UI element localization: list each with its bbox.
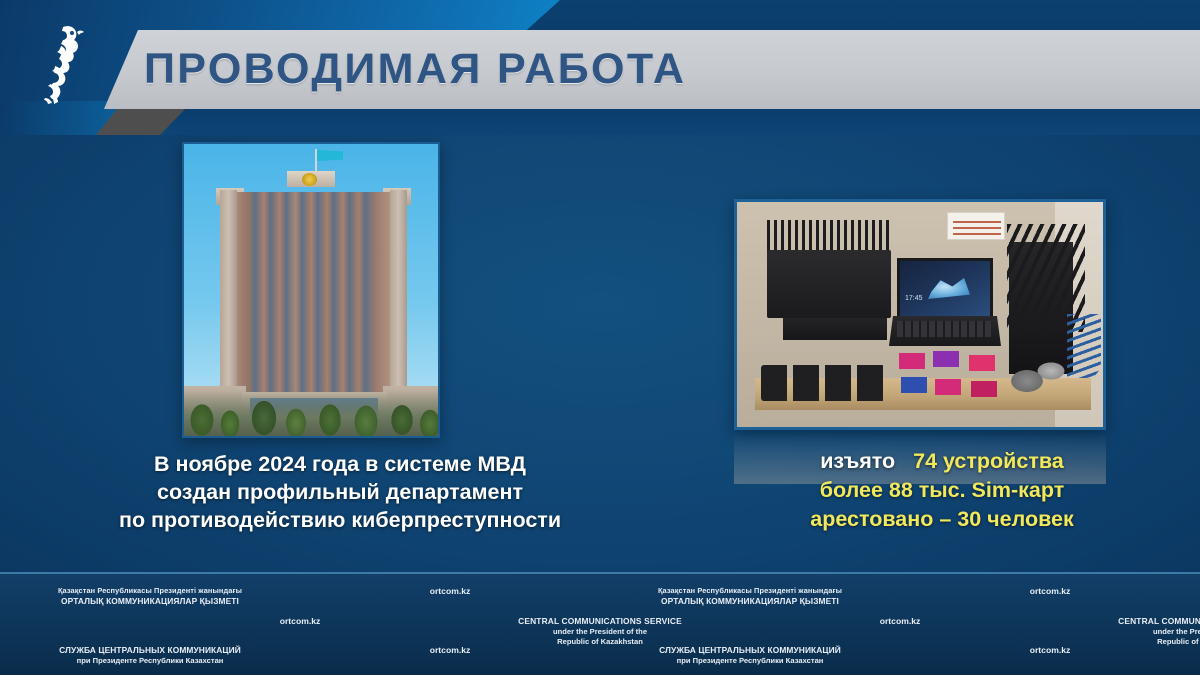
caption-right-value-devices: 74 устройства — [913, 449, 1064, 473]
footer-ru-line2: при Президенте Республики Казахстан — [0, 656, 300, 666]
evidence-cables — [1067, 314, 1101, 380]
seized-phones — [761, 365, 885, 401]
footer-tile-ru: СЛУЖБА ЦЕНТРАЛЬНЫХ КОММУНИКАЦИЙ при През… — [0, 645, 300, 666]
slide-root: ПРОВОДИМАЯ РАБОТА — [0, 0, 1200, 675]
evidence-label-paper — [947, 212, 1005, 240]
caption-left-line-3: по противодействию киберпреступности — [60, 506, 620, 534]
laptop-clock: 17:45 — [905, 295, 923, 302]
footer-ru-line1: СЛУЖБА ЦЕНТРАЛЬНЫХ КОММУНИКАЦИЙ — [0, 645, 300, 656]
simbox-antennas-left — [767, 220, 891, 252]
laptop-keyboard — [897, 321, 991, 337]
caption-right-line-3: арестовано – 30 человек — [742, 505, 1142, 534]
seized-sim-cards — [897, 351, 1023, 401]
header-title-banner: ПРОВОДИМАЯ РАБОТА — [104, 30, 1200, 109]
caption-right-line-1: изъято 74 устройства — [742, 447, 1142, 476]
caption-left: В ноябре 2024 года в системе МВД создан … — [60, 450, 620, 534]
footer-row-russian: СЛУЖБА ЦЕНТРАЛЬНЫХ КОММУНИКАЦИЙ при През… — [0, 645, 1200, 666]
flag-pole — [315, 149, 317, 173]
caption-left-line-2: создан профильный департамент — [60, 478, 620, 506]
footer-url: ortcom.kz — [300, 586, 600, 597]
seized-sim-chips — [1009, 359, 1067, 399]
state-emblem-icon — [302, 173, 317, 186]
footer-ru-line1: СЛУЖБА ЦЕНТРАЛЬНЫХ КОММУНИКАЦИЙ — [600, 645, 900, 656]
footer-tile-en: CENTRAL COMMUNICATIONS SERVICE under the… — [450, 616, 750, 647]
footer-tile-url: ortcom.kz — [300, 645, 600, 666]
caption-right-line-2: более 88 тыс. Sim-карт — [742, 476, 1142, 505]
building-tower — [234, 192, 392, 392]
laptop-screen: 17:45 — [897, 258, 993, 316]
slide-header: ПРОВОДИМАЯ РАБОТА — [0, 0, 1200, 135]
building-treeline — [184, 390, 440, 436]
simbox-device-left — [767, 250, 891, 318]
simbox-lid — [783, 318, 887, 340]
kazakhstan-flag-icon — [317, 150, 343, 161]
laptop-wallpaper — [928, 275, 970, 299]
footer-tile-url: ortcom.kz — [150, 616, 450, 647]
footer-row-english: ortcom.kz CENTRAL COMMUNICATIONS SERVICE… — [150, 616, 1200, 647]
photo-seized-equipment: 17:45 — [734, 199, 1106, 430]
footer-en-line1: CENTRAL COMMUNICATIONS SERVICE — [1050, 616, 1200, 627]
photo-mvd-building — [182, 142, 440, 438]
evidence-scene: 17:45 — [737, 202, 1103, 427]
footer-en-line2: under the President of the — [450, 627, 750, 637]
footer-row-kazakh: Қазақстан Республикасы Президенті жанынд… — [0, 586, 1200, 607]
building-pillar-right — [390, 190, 407, 396]
footer-kk-line2: ОРТАЛЫҚ КОММУНИКАЦИЯЛАР ҚЫЗМЕТІ — [0, 596, 300, 607]
caption-left-line-1: В ноябре 2024 года в системе МВД — [60, 450, 620, 478]
footer-kk-line1: Қазақстан Республикасы Президенті жанынд… — [600, 586, 900, 596]
footer-url: ortcom.kz — [900, 586, 1200, 597]
footer-tile-en: CENTRAL COMMUNICATIONS SERVICE under the… — [1050, 616, 1200, 647]
footer-tile-url: ortcom.kz — [750, 616, 1050, 647]
footer-url: ortcom.kz — [750, 616, 1050, 627]
building-scene — [184, 144, 438, 436]
footer-tile-url: ortcom.kz — [900, 645, 1200, 666]
footer-url: ortcom.kz — [900, 645, 1200, 656]
snow-leopard-emblem-icon — [33, 22, 95, 106]
page-title: ПРОВОДИМАЯ РАБОТА — [144, 45, 686, 94]
footer-tile-url: ortcom.kz — [900, 586, 1200, 607]
footer-tile-url: ortcom.kz — [300, 586, 600, 607]
footer-kk-line2: ОРТАЛЫҚ КОММУНИКАЦИЯЛАР ҚЫЗМЕТІ — [600, 596, 900, 607]
footer-watermark-band: Қазақстан Республикасы Президенті жанынд… — [0, 572, 1200, 675]
footer-url: ortcom.kz — [150, 616, 450, 627]
footer-en-line2: under the President of the — [1050, 627, 1200, 637]
footer-ru-line2: при Президенте Республики Казахстан — [600, 656, 900, 666]
caption-right-label-seized: изъято — [820, 449, 895, 473]
footer-kk-line1: Қазақстан Республикасы Президенті жанынд… — [0, 586, 300, 596]
footer-tile-kk: Қазақстан Республикасы Президенті жанынд… — [600, 586, 900, 607]
caption-right: изъято 74 устройства более 88 тыс. Sim-к… — [742, 447, 1142, 534]
footer-tile-ru: СЛУЖБА ЦЕНТРАЛЬНЫХ КОММУНИКАЦИЙ при През… — [600, 645, 900, 666]
building-pillar-left — [220, 190, 237, 396]
footer-url: ortcom.kz — [300, 645, 600, 656]
footer-tile-kk: Қазақстан Республикасы Президенті жанынд… — [0, 586, 300, 607]
footer-en-line1: CENTRAL COMMUNICATIONS SERVICE — [450, 616, 750, 627]
